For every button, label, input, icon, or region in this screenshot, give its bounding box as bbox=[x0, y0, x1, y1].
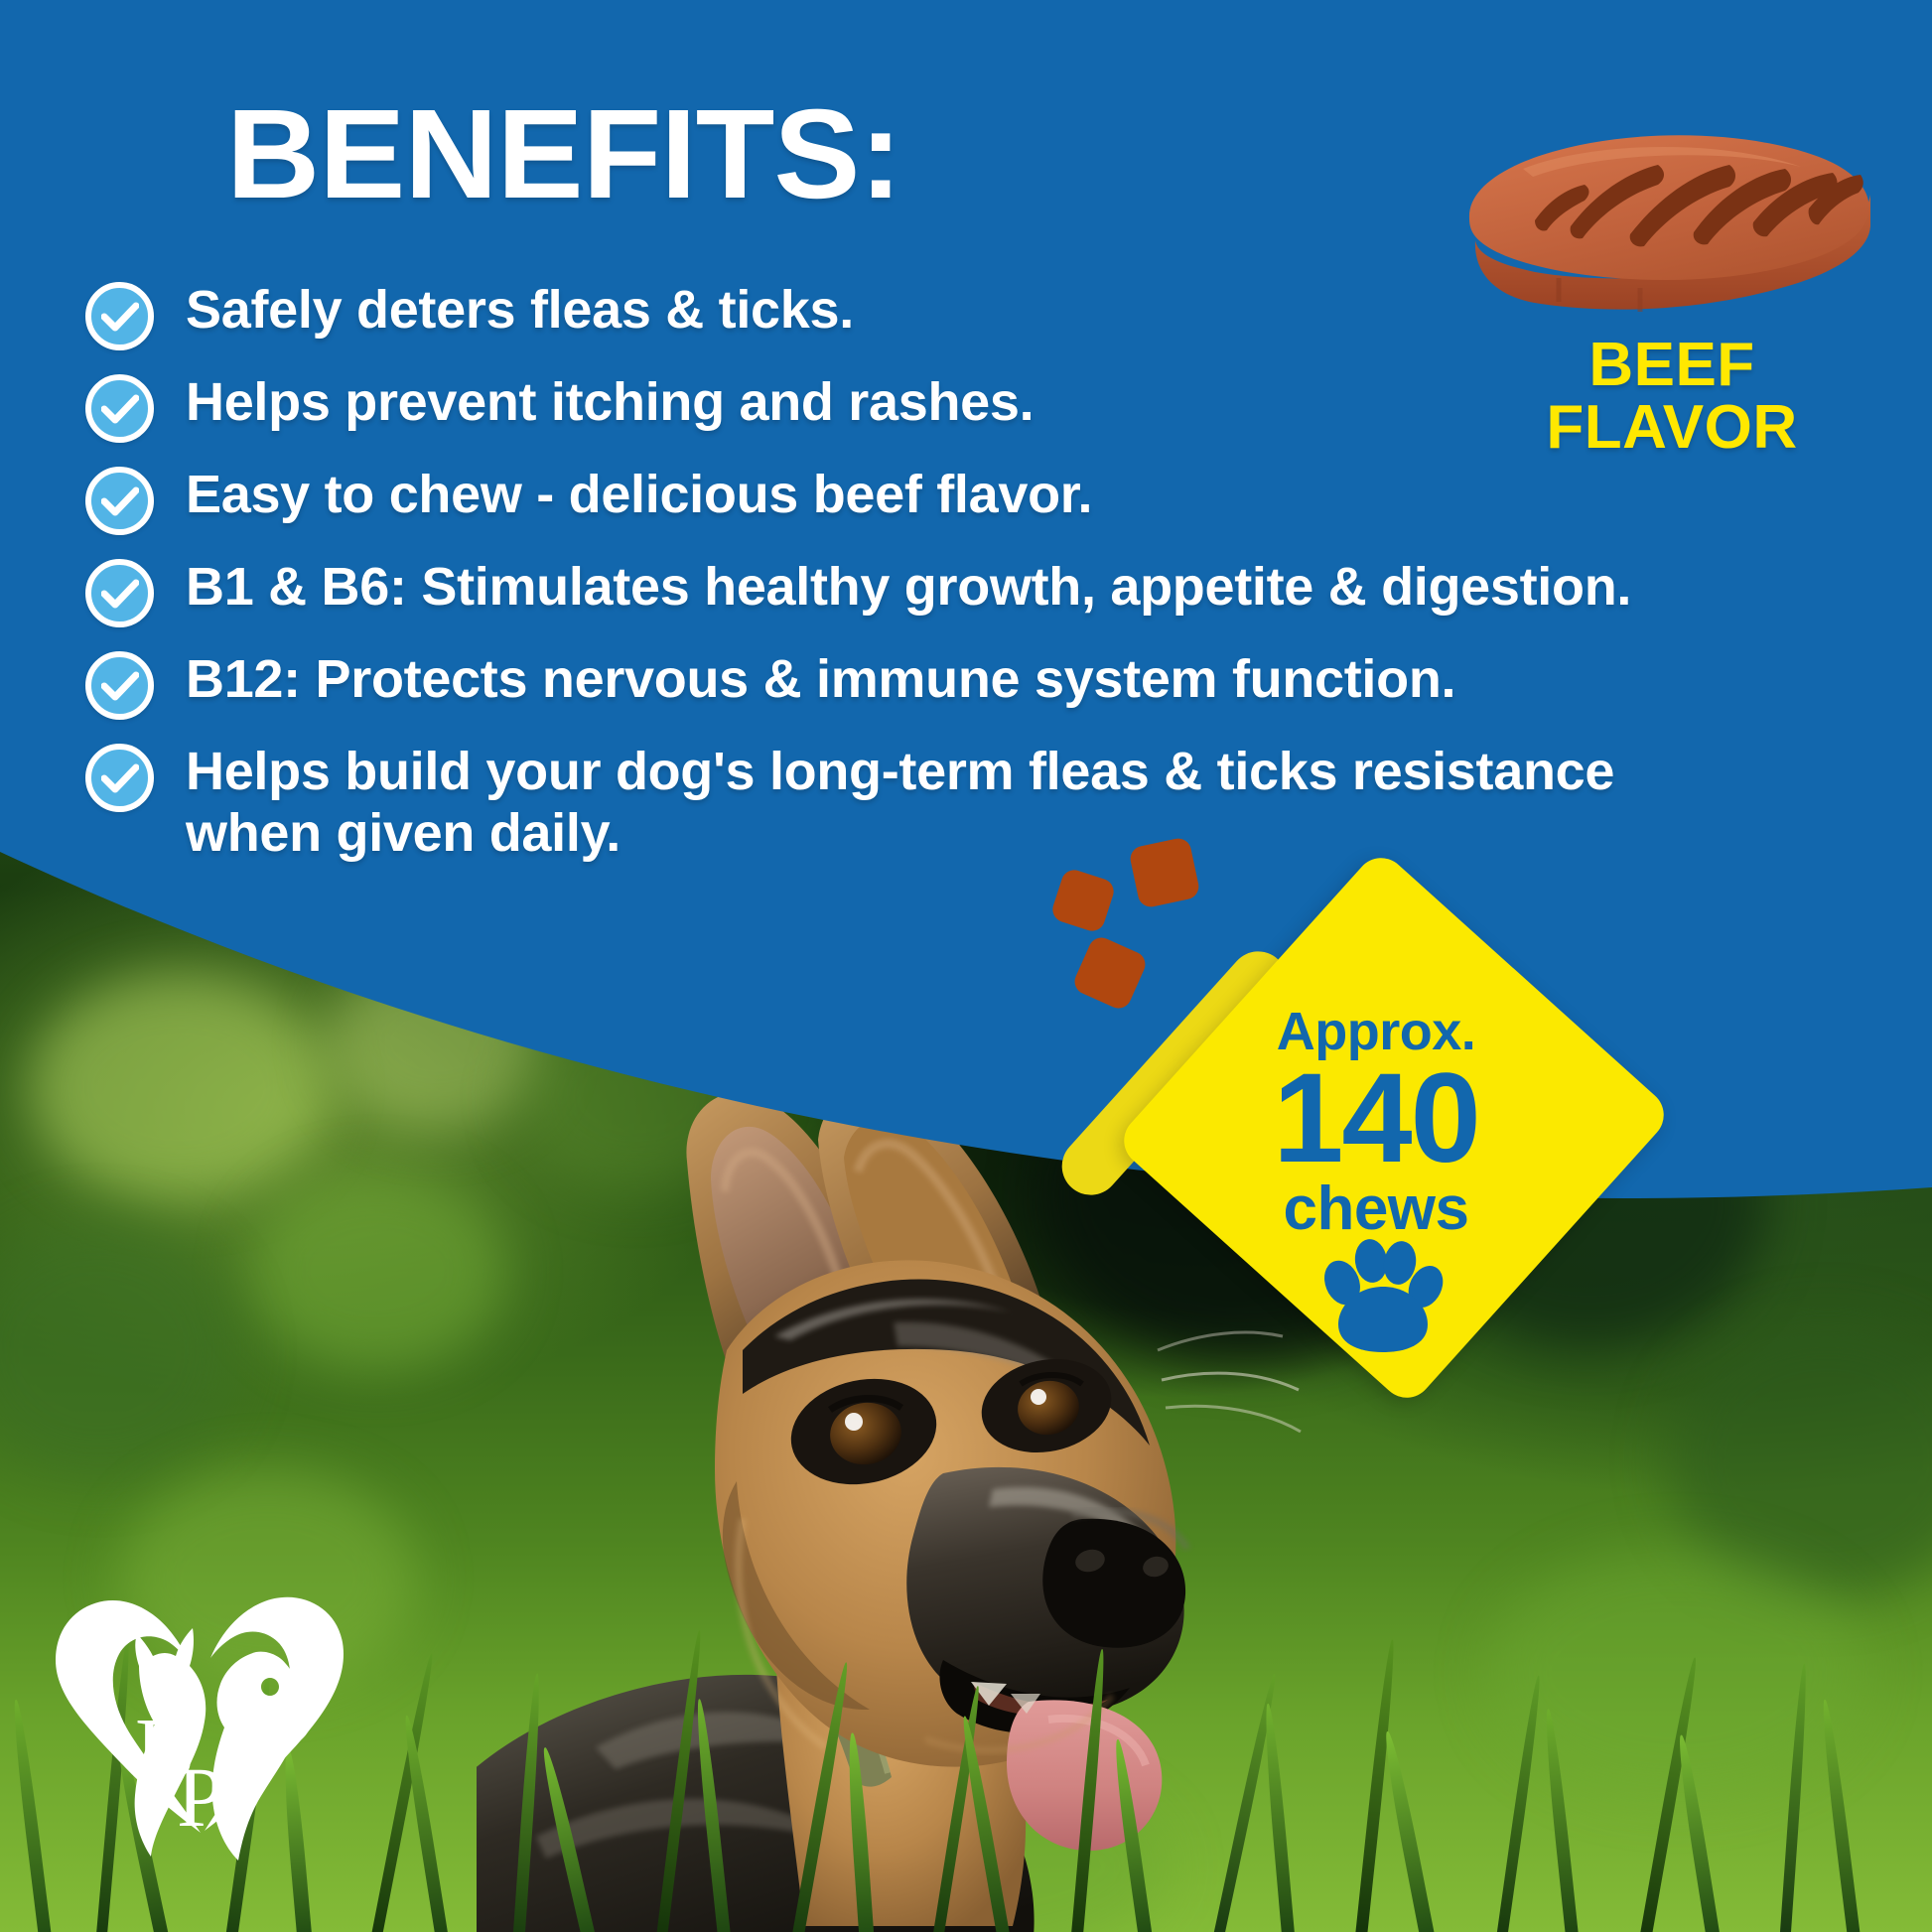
check-circle-icon bbox=[85, 374, 154, 443]
beef-flavor-badge: BEEF FLAVOR bbox=[1463, 123, 1880, 471]
check-circle-icon bbox=[85, 559, 154, 627]
page-title: BENEFITS: bbox=[226, 91, 901, 218]
list-item-label: Easy to chew - delicious beef flavor. bbox=[186, 465, 1092, 526]
logo-monogram-p: P bbox=[177, 1749, 224, 1845]
list-item-label: B1 & B6: Stimulates healthy growth, appe… bbox=[186, 557, 1631, 619]
check-circle-icon bbox=[85, 651, 154, 720]
check-circle-icon bbox=[85, 282, 154, 350]
chews-text-block: Approx. 140 chews bbox=[1187, 1005, 1565, 1240]
paw-print-icon bbox=[1320, 1239, 1446, 1359]
list-item: Helps build your dog's long-term fleas &… bbox=[85, 742, 1872, 864]
steak-icon bbox=[1463, 123, 1880, 332]
chew-crumb-icon bbox=[1128, 836, 1201, 909]
check-circle-icon bbox=[85, 467, 154, 535]
chews-count-badge: Approx. 140 chews bbox=[1088, 894, 1585, 1410]
list-item: B1 & B6: Stimulates healthy growth, appe… bbox=[85, 557, 1872, 627]
brand-logo: B P bbox=[36, 1583, 363, 1905]
check-circle-icon bbox=[85, 744, 154, 812]
list-item-label: Safely deters fleas & ticks. bbox=[186, 280, 854, 342]
chews-count: 140 bbox=[1187, 1054, 1565, 1184]
list-item: Easy to chew - delicious beef flavor. bbox=[85, 465, 1872, 535]
list-item-label: Helps prevent itching and rashes. bbox=[186, 372, 1034, 434]
list-item: B12: Protects nervous & immune system fu… bbox=[85, 649, 1872, 720]
list-item-label: Helps build your dog's long-term fleas &… bbox=[186, 742, 1614, 864]
beef-flavor-label: BEEF FLAVOR bbox=[1463, 334, 1880, 459]
chews-unit-label: chews bbox=[1187, 1178, 1565, 1240]
product-banner: BENEFITS: Safely deters fleas & ticks. H… bbox=[0, 0, 1932, 1932]
list-item-label: B12: Protects nervous & immune system fu… bbox=[186, 649, 1455, 711]
